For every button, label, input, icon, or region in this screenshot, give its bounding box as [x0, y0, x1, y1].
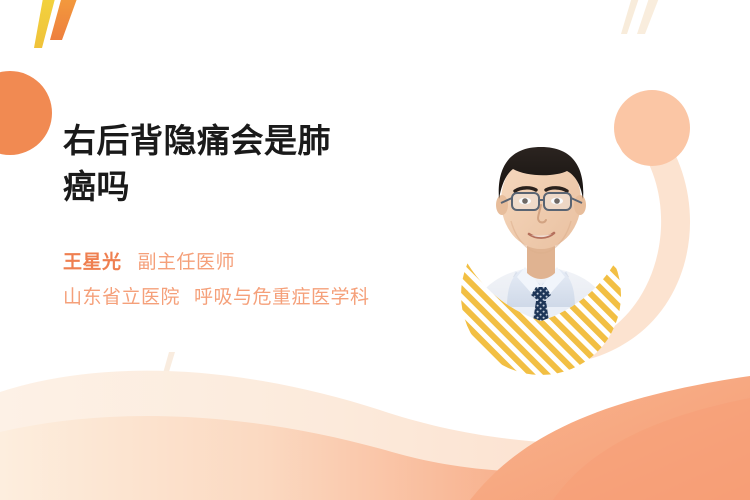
- doctor-portrait: [443, 97, 639, 349]
- text-content: 右后背隐痛会是肺 癌吗 王星光 副主任医师 山东省立医院 呼吸与危重症医学科: [63, 118, 433, 307]
- doctor-department: 呼吸与危重症医学科: [194, 288, 370, 307]
- doctor-affiliation-row: 山东省立医院 呼吸与危重症医学科: [63, 288, 433, 307]
- doctor-info-card: 右后背隐痛会是肺 癌吗 王星光 副主任医师 山东省立医院 呼吸与危重症医学科: [0, 0, 750, 500]
- avatar: [443, 97, 639, 349]
- doctor-professional-title: 副主任医师: [138, 253, 236, 272]
- doctor-name-row: 王星光 副主任医师: [63, 253, 433, 272]
- doctor-name: 王星光: [63, 253, 122, 272]
- page-title: 右后背隐痛会是肺 癌吗: [63, 118, 433, 209]
- doctor-hospital: 山东省立医院: [63, 288, 180, 307]
- doctor-meta: 王星光 副主任医师 山东省立医院 呼吸与危重症医学科: [63, 253, 433, 307]
